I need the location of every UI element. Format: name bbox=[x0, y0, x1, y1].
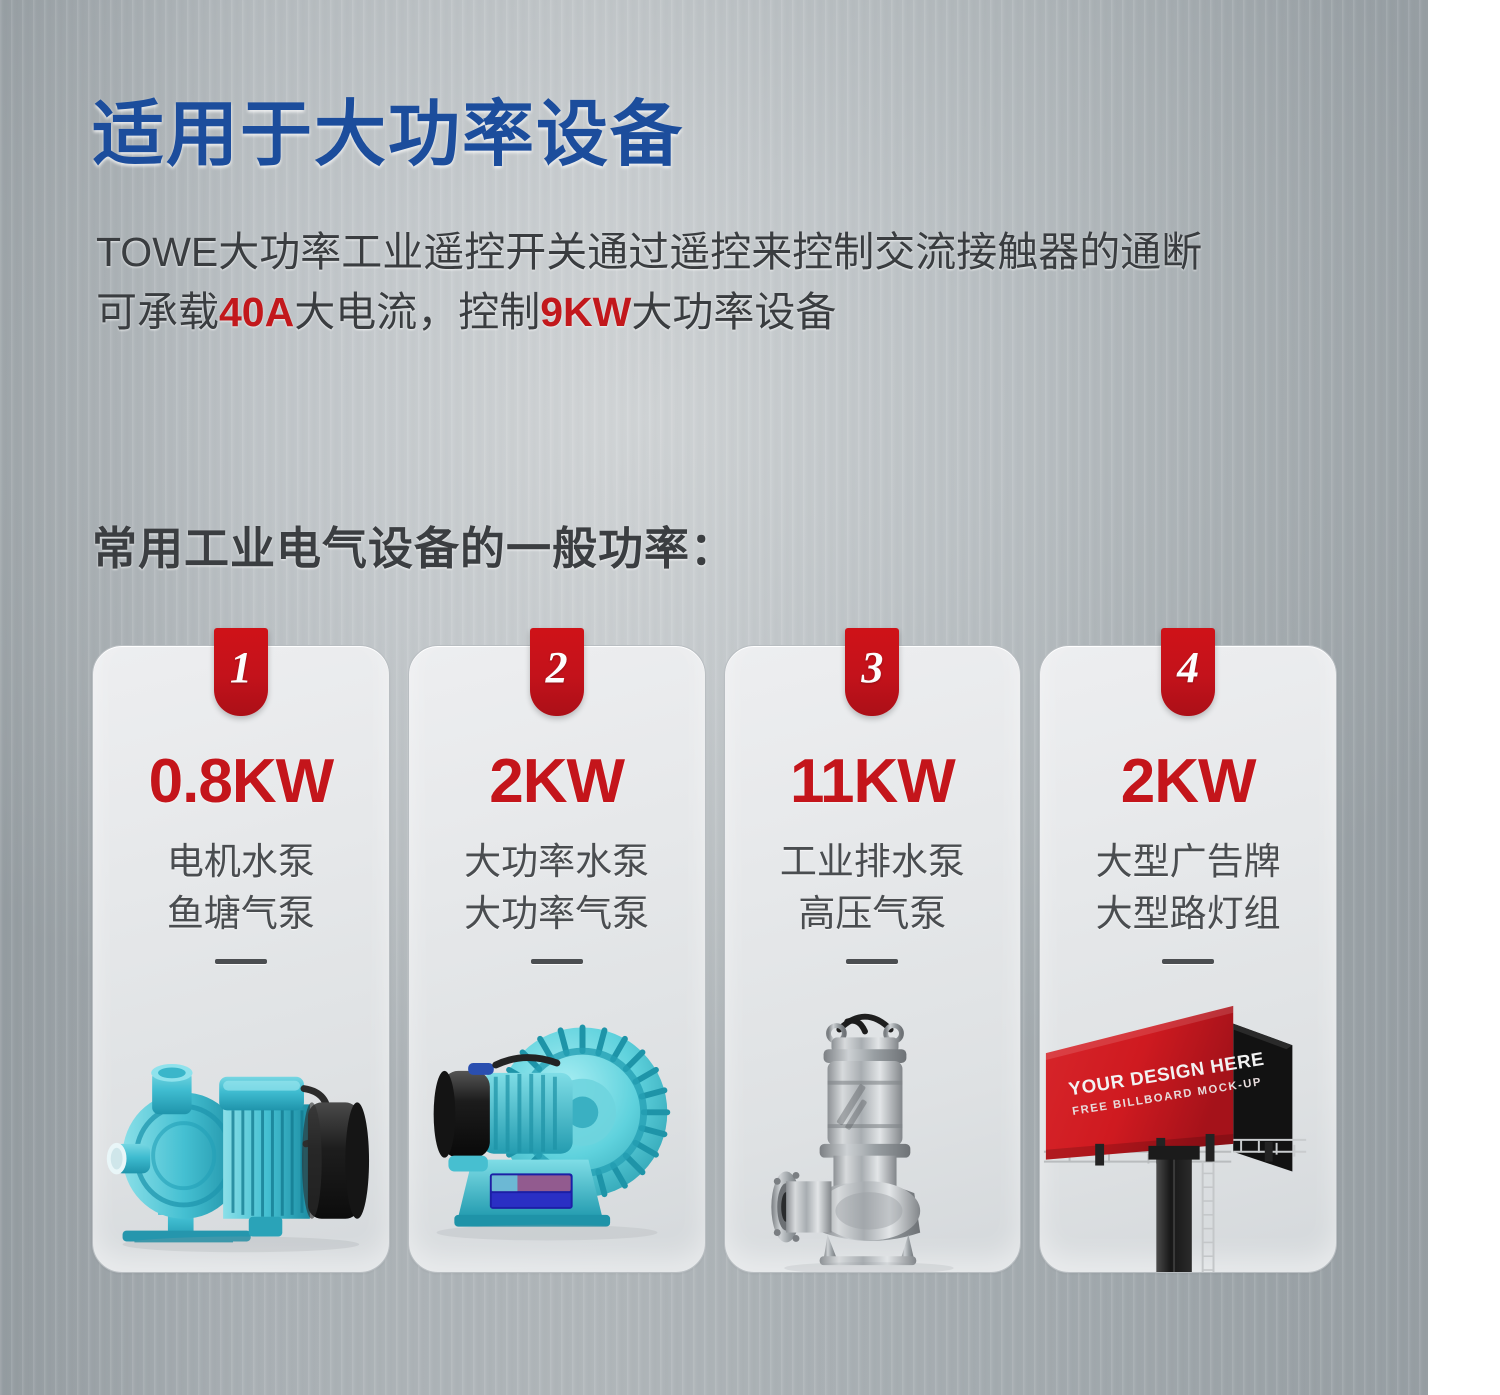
card-2-power-value: 2KW bbox=[409, 746, 705, 817]
card-2-desc-line-2: 大功率气泵 bbox=[409, 888, 705, 940]
centrifugal-water-pump-photo bbox=[93, 982, 389, 1272]
current-rating-highlight: 40A bbox=[219, 289, 294, 335]
badge-number-label: 4 bbox=[1177, 646, 1199, 690]
card-1-desc-line-1: 电机水泵 bbox=[93, 836, 389, 888]
equipment-card-3[interactable]: 3 11KW 工业排水泵 高压气泵 bbox=[724, 645, 1022, 1273]
card-3-power-value: 11KW bbox=[725, 746, 1021, 817]
card-1-description: 电机水泵 鱼塘气泵 bbox=[93, 836, 389, 940]
card-4-number-badge: 4 bbox=[1161, 628, 1215, 716]
intro-line1-text: TOWE大功率工业遥控开关通过遥控来控制交流接触器的通断 bbox=[96, 229, 1202, 275]
intro-paragraph-line-1: TOWE大功率工业遥控开关通过遥控来控制交流接触器的通断 bbox=[96, 222, 1406, 282]
card-4-divider bbox=[1162, 959, 1214, 964]
equipment-card-1[interactable]: 1 0.8KW 电机水泵 鱼塘气泵 bbox=[92, 645, 390, 1273]
card-3-desc-line-1: 工业排水泵 bbox=[725, 836, 1021, 888]
intro-line2-middle: 大电流，控制 bbox=[294, 289, 540, 335]
card-2-description: 大功率水泵 大功率气泵 bbox=[409, 836, 705, 940]
ring-blower-air-pump-photo bbox=[409, 982, 705, 1272]
submersible-sewage-pump-photo bbox=[725, 982, 1021, 1272]
badge-number-label: 2 bbox=[546, 646, 568, 690]
card-1-power-value: 0.8KW bbox=[93, 746, 389, 817]
billboard-photo: YOUR DESIGN HERE FREE BILLBOARD MOCK-UP bbox=[1040, 982, 1336, 1272]
intro-paragraph: TOWE大功率工业遥控开关通过遥控来控制交流接触器的通断 可承载40A大电流，控… bbox=[96, 222, 1406, 342]
intro-line2-suffix: 大功率设备 bbox=[631, 289, 836, 335]
card-1-number-badge: 1 bbox=[214, 628, 268, 716]
section-heading: 常用工业电气设备的一般功率： bbox=[92, 512, 736, 577]
card-3-description: 工业排水泵 高压气泵 bbox=[725, 836, 1021, 940]
card-3-number-badge: 3 bbox=[845, 628, 899, 716]
equipment-power-card-list: 1 0.8KW 电机水泵 鱼塘气泵 bbox=[92, 645, 1337, 1273]
card-2-number-badge: 2 bbox=[530, 628, 584, 716]
card-1-divider bbox=[215, 959, 267, 964]
badge-number-label: 1 bbox=[230, 646, 252, 690]
page-title: 适用于大功率设备 bbox=[92, 75, 684, 180]
equipment-card-4[interactable]: 4 2KW 大型广告牌 大型路灯组 bbox=[1039, 645, 1337, 1273]
card-1-desc-line-2: 鱼塘气泵 bbox=[93, 888, 389, 940]
intro-paragraph-line-2: 可承载40A大电流，控制9KW大功率设备 bbox=[96, 282, 1406, 342]
card-4-desc-line-2: 大型路灯组 bbox=[1040, 888, 1336, 940]
card-3-desc-line-2: 高压气泵 bbox=[725, 888, 1021, 940]
card-4-description: 大型广告牌 大型路灯组 bbox=[1040, 836, 1336, 940]
card-4-desc-line-1: 大型广告牌 bbox=[1040, 836, 1336, 888]
card-4-power-value: 2KW bbox=[1040, 746, 1336, 817]
card-2-divider bbox=[531, 959, 583, 964]
power-rating-highlight: 9KW bbox=[540, 289, 631, 335]
equipment-card-2[interactable]: 2 2KW 大功率水泵 大功率气泵 bbox=[408, 645, 706, 1273]
card-3-divider bbox=[846, 959, 898, 964]
badge-number-label: 3 bbox=[861, 646, 883, 690]
product-feature-page: 适用于大功率设备 TOWE大功率工业遥控开关通过遥控来控制交流接触器的通断 可承… bbox=[0, 0, 1500, 1395]
card-2-desc-line-1: 大功率水泵 bbox=[409, 836, 705, 888]
intro-line2-prefix: 可承载 bbox=[96, 289, 219, 335]
